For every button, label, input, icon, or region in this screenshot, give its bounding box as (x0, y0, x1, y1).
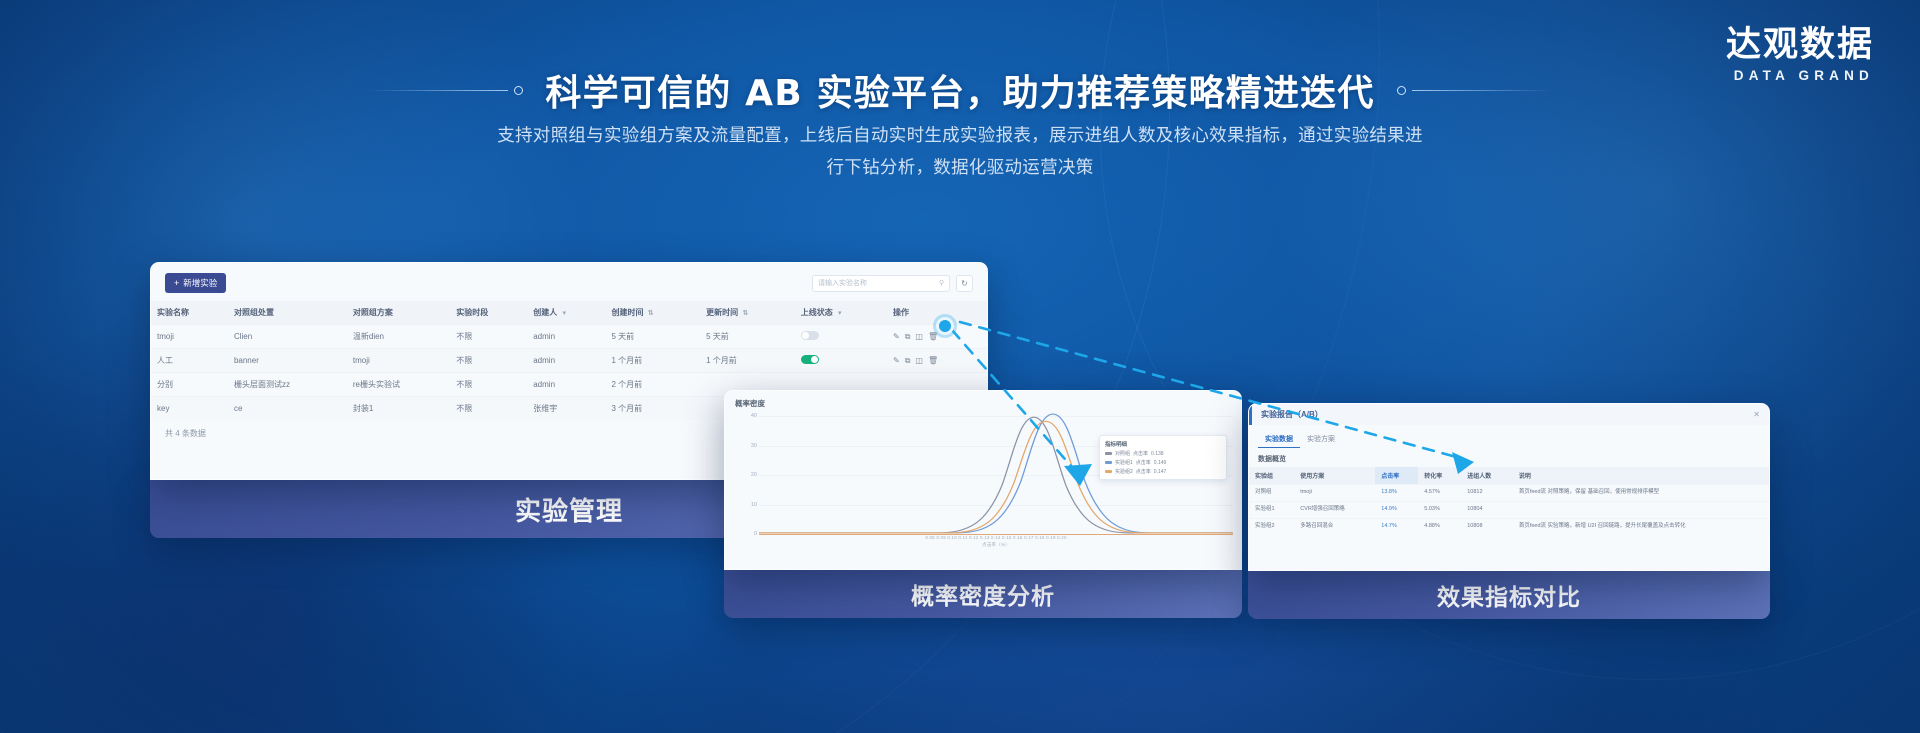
col-created[interactable]: 创建时间 ⇅ (606, 301, 701, 325)
metrics-table-body: 对照组 tmoji 13.8% 4.57% 10812 首页feed流 对照策略… (1249, 485, 1769, 535)
col-ctrl-plan[interactable]: 对照组方案 (347, 301, 450, 325)
y-tick: 20 (751, 472, 757, 478)
legend-swatch (1105, 452, 1112, 455)
cell-users: 10808 (1461, 518, 1513, 534)
cell-note: 首页feed流 对照策略，保留 基础召回，使用常规排序模型 (1513, 485, 1769, 502)
delete-icon[interactable]: 🗑 (928, 332, 938, 342)
cell-plan: tmoji (1294, 485, 1375, 502)
cell-cvr: 5.03% (1418, 501, 1461, 518)
table-row[interactable]: 对照组 tmoji 13.8% 4.57% 10812 首页feed流 对照策略… (1249, 485, 1769, 502)
copy-icon[interactable]: ⧉ (905, 332, 911, 342)
legend-group: 实验组1 (1115, 459, 1133, 466)
cell-users: 10804 (1461, 501, 1513, 518)
col-cvr: 转化率 (1418, 467, 1461, 485)
y-tick: 40 (751, 413, 757, 419)
cell-group: 实验组1 (1249, 501, 1294, 518)
col-plan: 使用方案 (1294, 467, 1375, 485)
table-row[interactable]: tmoji Clien 温新dien 不限 admin 5 天前 5 天前 ✎ … (151, 325, 987, 349)
cell-cvr: 4.88% (1418, 518, 1461, 534)
x-ticks: 0.08 0.09 0.10 0.11 0.12 0.13 0.14 0.15 … (925, 535, 1066, 542)
cell-creator: admin (527, 373, 605, 397)
filter-icon[interactable]: ▾ (838, 310, 842, 317)
search-icon[interactable]: ⚲ (939, 279, 944, 287)
density-chart: 40 30 20 10 0 (733, 411, 1233, 551)
cell-group: 对照组 (1249, 485, 1294, 502)
cell-ctrl-plan: 温新dien (347, 325, 450, 349)
col-period[interactable]: 实验时段 (450, 301, 527, 325)
legend-group: 实验组2 (1115, 468, 1133, 475)
card-caption-metrics-comparison: 效果指标对比 (1248, 571, 1770, 619)
density-panel-title: 概率密度 (725, 391, 1241, 411)
legend-metric: 点击率 (1136, 468, 1151, 475)
col-online[interactable]: 上线状态 ▾ (795, 301, 887, 325)
cell-ctrl-plan: re栅头实验试 (347, 373, 450, 397)
chart-x-axis: 0.08 0.09 0.10 0.11 0.12 0.13 0.14 0.15 … (759, 535, 1233, 549)
cell-ops: ✎ ⧉ ◫ 🗑 (887, 349, 987, 373)
cell-ctr: 14.9% (1375, 501, 1418, 518)
cell-ctrl-config: banner (228, 349, 347, 373)
legend-swatch (1105, 470, 1112, 473)
col-updated-label: 更新时间 (706, 308, 738, 317)
experiment-table-head: 实验名称 对照组处置 对照组方案 实验时段 创建人 ▾ 创建时间 ⇅ (151, 301, 987, 325)
edit-icon[interactable]: ✎ (893, 332, 900, 342)
search-input[interactable]: 请输入实验名称 ⚲ (812, 275, 950, 292)
cell-name: key (151, 397, 228, 421)
tab-experiment-plan[interactable]: 实验方案 (1300, 431, 1342, 448)
metrics-table: 实验组 使用方案 点击率 转化率 进组人数 说明 对照组 tmoji 13.8%… (1249, 467, 1769, 535)
cell-period: 不限 (450, 349, 527, 373)
add-experiment-button[interactable]: + 新增实验 (165, 273, 226, 293)
report-panel-header: 实验报告（A/B） ✕ (1249, 404, 1769, 425)
col-users: 进组人数 (1461, 467, 1513, 485)
close-icon[interactable]: ✕ (1753, 410, 1760, 419)
cell-ctr: 14.7% (1375, 518, 1418, 534)
legend-metric: 点击率 (1136, 459, 1151, 466)
online-toggle[interactable] (801, 355, 819, 364)
report-entry-hotspot[interactable] (936, 317, 954, 335)
legend-value: 0.138 (1151, 451, 1164, 457)
table-header-row: 实验组 使用方案 点击率 转化率 进组人数 说明 (1249, 467, 1769, 485)
col-online-label: 上线状态 (801, 308, 833, 317)
cell-name: tmoji (151, 325, 228, 349)
tab-experiment-data[interactable]: 实验数据 (1258, 431, 1300, 448)
delete-icon[interactable]: 🗑 (928, 356, 938, 366)
report-tabs: 实验数据 实验方案 (1249, 425, 1769, 448)
cell-created: 5 天前 (606, 325, 701, 349)
report-icon[interactable]: ◫ (915, 356, 923, 366)
metrics-section-title: 数据概览 (1249, 448, 1769, 467)
legend-group: 对照组 (1115, 450, 1130, 457)
legend-value: 0.149 (1154, 460, 1167, 466)
legend-title: 指标明细 (1105, 440, 1221, 448)
experiment-list-toolbar: + 新增实验 请输入实验名称 ⚲ ↻ (151, 263, 987, 301)
legend-row: 实验组2 点击率 0.147 (1105, 468, 1221, 475)
cell-ctrl-config: 栅头层面测试zz (228, 373, 347, 397)
cell-created: 3 个月前 (606, 397, 701, 421)
search-placeholder: 请输入实验名称 (818, 278, 867, 288)
table-header-row: 实验名称 对照组处置 对照组方案 实验时段 创建人 ▾ 创建时间 ⇅ (151, 301, 987, 325)
card-density-analysis[interactable]: 概率密度 40 30 20 10 0 (724, 390, 1242, 618)
report-icon[interactable]: ◫ (915, 332, 923, 342)
col-note: 说明 (1513, 467, 1769, 485)
legend-row: 对照组 点击率 0.138 (1105, 450, 1221, 457)
cell-updated: 1 个月前 (700, 349, 795, 373)
report-panel-title: 实验报告（A/B） (1261, 409, 1323, 420)
cell-plan: 多路召回混合 (1294, 518, 1375, 534)
cell-cvr: 4.57% (1418, 485, 1461, 502)
cell-note (1513, 501, 1769, 518)
screenshot-density-chart: 概率密度 40 30 20 10 0 (724, 390, 1242, 570)
legend-swatch (1105, 461, 1112, 464)
table-row[interactable]: 实验组2 多路召回混合 14.7% 4.88% 10808 首页feed流 实验… (1249, 518, 1769, 534)
legend-row: 实验组1 点击率 0.149 (1105, 459, 1221, 466)
edit-icon[interactable]: ✎ (893, 356, 900, 366)
table-row[interactable]: 人工 banner tmoji 不限 admin 1 个月前 1 个月前 ✎ ⧉ (151, 349, 987, 373)
filter-icon[interactable]: ▾ (562, 310, 566, 317)
cell-users: 10812 (1461, 485, 1513, 502)
cell-ctrl-plan: tmoji (347, 349, 450, 373)
online-toggle[interactable] (801, 331, 819, 340)
refresh-icon[interactable]: ↻ (956, 275, 973, 292)
cell-created: 2 个月前 (606, 373, 701, 397)
cell-creator: admin (527, 325, 605, 349)
cell-period: 不限 (450, 325, 527, 349)
col-creator-label: 创建人 (533, 308, 557, 317)
legend-metric: 点击率 (1133, 450, 1148, 457)
copy-icon[interactable]: ⧉ (905, 356, 911, 366)
cell-online[interactable] (795, 325, 887, 349)
col-updated[interactable]: 更新时间 ⇅ (700, 301, 795, 325)
cell-period: 不限 (450, 397, 527, 421)
chart-legend-tooltip: 指标明细 对照组 点击率 0.138 实验组1 点击率 0.149 (1099, 435, 1227, 480)
screenshot-stage: + 新增实验 请输入实验名称 ⚲ ↻ 实验名称 对照组处置 对照组方案 (0, 0, 1920, 733)
chart-y-axis: 40 30 20 10 0 (733, 411, 759, 535)
cell-ctrl-plan: 封装1 (347, 397, 450, 421)
cell-note: 首页feed流 实验策略，新增 U2I 召回链路，提升长尾覆盖及点击转化 (1513, 518, 1769, 534)
col-creator[interactable]: 创建人 ▾ (527, 301, 605, 325)
screenshot-metrics-table: 实验报告（A/B） ✕ 实验数据 实验方案 数据概览 实验组 使用方案 点击率 … (1248, 403, 1770, 571)
col-name[interactable]: 实验名称 (151, 301, 228, 325)
y-tick: 30 (751, 443, 757, 449)
metrics-table-head: 实验组 使用方案 点击率 转化率 进组人数 说明 (1249, 467, 1769, 485)
card-metrics-comparison[interactable]: 实验报告（A/B） ✕ 实验数据 实验方案 数据概览 实验组 使用方案 点击率 … (1248, 403, 1770, 619)
cell-period: 不限 (450, 373, 527, 397)
cell-ctrl-config: ce (228, 397, 347, 421)
y-tick: 10 (751, 502, 757, 508)
card-caption-density-analysis: 概率密度分析 (724, 570, 1242, 618)
cell-updated: 5 天前 (700, 325, 795, 349)
col-created-label: 创建时间 (612, 308, 644, 317)
cell-group: 实验组2 (1249, 518, 1294, 534)
x-axis-label: 点击率（%） (925, 542, 1066, 549)
cell-creator: 张维宇 (527, 397, 605, 421)
table-row[interactable]: 实验组1 CVR增强召回策略 14.9% 5.03% 10804 (1249, 501, 1769, 518)
cell-created: 1 个月前 (606, 349, 701, 373)
add-experiment-label: 新增实验 (183, 277, 217, 289)
cell-name: 分别 (151, 373, 228, 397)
col-group: 实验组 (1249, 467, 1294, 485)
sort-icon[interactable]: ⇅ (648, 310, 654, 317)
plus-icon: + (174, 279, 179, 288)
col-ctr: 点击率 (1375, 467, 1418, 485)
y-tick: 0 (754, 531, 757, 537)
cell-online[interactable] (795, 349, 887, 373)
legend-value: 0.147 (1154, 469, 1167, 475)
sort-icon[interactable]: ⇅ (742, 310, 748, 317)
cell-ctr: 13.8% (1375, 485, 1418, 502)
cell-creator: admin (527, 349, 605, 373)
cell-name: 人工 (151, 349, 228, 373)
toolbar-right: 请输入实验名称 ⚲ ↻ (812, 275, 973, 292)
col-ctrl-config[interactable]: 对照组处置 (228, 301, 347, 325)
cell-ctrl-config: Clien (228, 325, 347, 349)
cell-plan: CVR增强召回策略 (1294, 501, 1375, 518)
